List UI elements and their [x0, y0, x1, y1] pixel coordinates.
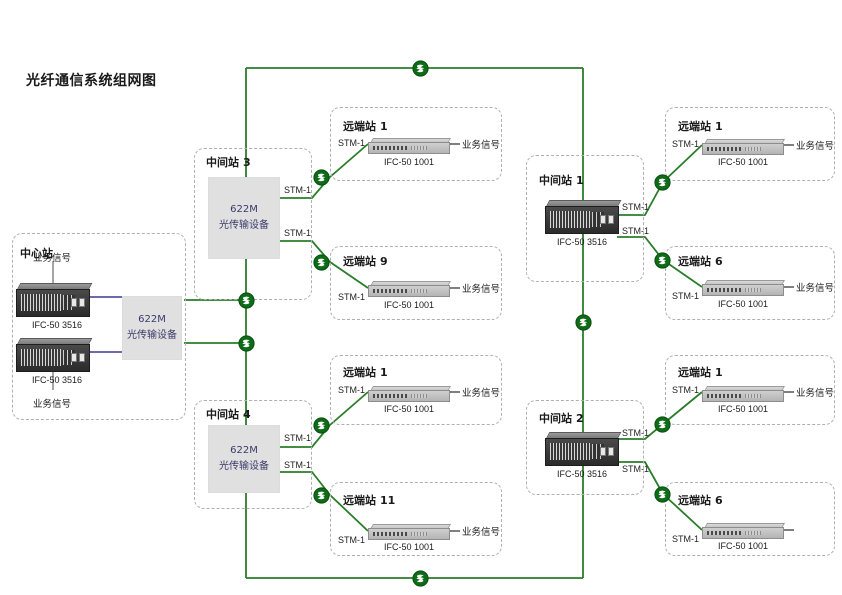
is1-device-label: IFC-50 3516: [545, 237, 619, 247]
rs6-device[interactable]: [702, 280, 784, 296]
is1-port2-label: STM-1: [622, 226, 649, 236]
station-intermediate-4-title: 中间站4: [206, 406, 251, 422]
fiber-repeater-icon[interactable]: [313, 254, 330, 271]
center-device-top-label: IFC-50 3516: [20, 320, 94, 330]
unit-port-strip: [707, 531, 741, 535]
is4-eq-rate: 622M: [230, 443, 258, 459]
page-title: 光纤通信系统组网图: [26, 70, 157, 90]
rs6-name: 远端站: [678, 255, 711, 268]
rs6b-num: 6: [715, 494, 723, 507]
is1-port1-label: STM-1: [622, 202, 649, 212]
rs1b-num: 1: [380, 366, 388, 379]
unit-port-strip: [707, 288, 741, 292]
rs6b-device[interactable]: [702, 523, 784, 539]
rs6-uplink-label: STM-1: [672, 291, 699, 301]
rs1br-device-label: IFC-50 1001: [702, 404, 784, 414]
rs9-uplink-label: STM-1: [338, 292, 365, 302]
center-device-bottom-label: IFC-50 3516: [20, 375, 94, 385]
rack-led-a: [71, 298, 77, 307]
is3-port1-label: STM-1: [284, 185, 311, 195]
fiber-repeater-icon[interactable]: [412, 60, 429, 77]
is3-num: 3: [243, 156, 251, 169]
rs6-service-label: 业务信号: [796, 280, 834, 294]
center-device-top[interactable]: [16, 283, 90, 317]
rs1b-uplink-label: STM-1: [338, 385, 365, 395]
is2-port2-label: STM-1: [622, 464, 649, 474]
rack-led-b: [608, 447, 614, 456]
rack-led-a: [600, 215, 606, 224]
unit-body: [368, 390, 450, 402]
rack-led-a: [600, 447, 606, 456]
rack-card-slots: [550, 211, 590, 228]
is2-num: 2: [576, 412, 584, 425]
is1-num: 1: [576, 174, 584, 187]
unit-port-strip: [373, 394, 407, 398]
rack-body: [545, 206, 619, 234]
rs6-num: 6: [715, 255, 723, 268]
rs1br-device[interactable]: [702, 386, 784, 402]
unit-port-strip-2: [411, 532, 427, 536]
rs1-name: 远端站: [343, 120, 376, 133]
rack-led-b: [79, 353, 85, 362]
is2-port1-label: STM-1: [622, 428, 649, 438]
station-intermediate-2-title: 中间站2: [539, 410, 584, 426]
rack-body: [16, 344, 90, 372]
fiber-repeater-icon[interactable]: [654, 416, 671, 433]
rs1r-device[interactable]: [702, 139, 784, 155]
unit-body: [702, 527, 784, 539]
center-eq-name: 光传输设备: [127, 328, 177, 344]
rs1r-service-label: 业务信号: [796, 138, 834, 152]
fiber-repeater-icon[interactable]: [654, 486, 671, 503]
fiber-repeater-icon[interactable]: [313, 417, 330, 434]
is4-num: 4: [243, 408, 251, 421]
rs9-name: 远端站: [343, 255, 376, 268]
is1-name: 中间站: [539, 174, 572, 187]
is3-eq-rate: 622M: [230, 202, 258, 218]
rack-led-b: [79, 298, 85, 307]
rs11-name: 远端站: [343, 494, 376, 507]
rs1-device-label: IFC-50 1001: [368, 157, 450, 167]
station-remote-1-bottom-right-title: 远端站1: [678, 364, 723, 380]
rs1r-device-label: IFC-50 1001: [702, 157, 784, 167]
rs11-device[interactable]: [368, 524, 450, 540]
center-device-bottom[interactable]: [16, 338, 90, 372]
unit-port-strip-2: [745, 288, 761, 292]
fiber-repeater-icon[interactable]: [313, 487, 330, 504]
unit-port-strip: [707, 394, 741, 398]
fiber-repeater-icon[interactable]: [238, 292, 255, 309]
fiber-repeater-icon[interactable]: [654, 174, 671, 191]
rs1r-num: 1: [715, 120, 723, 133]
unit-port-strip-2: [745, 394, 761, 398]
rs6b-uplink-label: STM-1: [672, 534, 699, 544]
rs9-num: 9: [380, 255, 388, 268]
rs1-uplink-label: STM-1: [338, 138, 365, 148]
is3-optical-equipment[interactable]: 622M 光传输设备: [208, 177, 280, 259]
rs6-device-label: IFC-50 1001: [702, 299, 784, 309]
unit-body: [702, 143, 784, 155]
is2-device-label: IFC-50 3516: [545, 469, 619, 479]
is4-name: 中间站: [206, 408, 239, 421]
is4-port1-label: STM-1: [284, 433, 311, 443]
unit-body: [368, 285, 450, 297]
rs11-uplink-label: STM-1: [338, 535, 365, 545]
rs1b-service-label: 业务信号: [462, 385, 500, 399]
unit-port-strip-2: [745, 531, 761, 535]
rs9-device-label: IFC-50 1001: [368, 300, 450, 310]
unit-port-strip-2: [411, 289, 427, 293]
is4-eq-name: 光传输设备: [219, 459, 269, 475]
is1-device[interactable]: [545, 200, 619, 234]
rs11-num: 11: [380, 494, 395, 507]
rack-led-a: [71, 353, 77, 362]
fiber-repeater-icon[interactable]: [238, 335, 255, 352]
rs1br-name: 远端站: [678, 366, 711, 379]
fiber-repeater-icon[interactable]: [654, 252, 671, 269]
unit-port-strip-2: [411, 394, 427, 398]
rack-card-slots: [550, 443, 590, 460]
rs1-device[interactable]: [368, 138, 450, 154]
rs1br-num: 1: [715, 366, 723, 379]
station-remote-6-title: 远端站6: [678, 253, 723, 269]
unit-body: [368, 528, 450, 540]
rs1b-device-label: IFC-50 1001: [368, 404, 450, 414]
rs1r-uplink-label: STM-1: [672, 139, 699, 149]
rs9-service-label: 业务信号: [462, 281, 500, 295]
is3-eq-name: 光传输设备: [219, 218, 269, 234]
rack-led-b: [608, 215, 614, 224]
station-remote-9-title: 远端站9: [343, 253, 388, 269]
rack-body: [545, 438, 619, 466]
is4-port2-label: STM-1: [284, 460, 311, 470]
station-remote-1-title: 远端站1: [343, 118, 388, 134]
rs1b-name: 远端站: [343, 366, 376, 379]
station-intermediate-3-title: 中间站3: [206, 154, 251, 170]
unit-port-strip-2: [745, 147, 761, 151]
rs1br-uplink-label: STM-1: [672, 385, 699, 395]
rs9-device[interactable]: [368, 281, 450, 297]
unit-port-strip: [707, 147, 741, 151]
station-intermediate-1-title: 中间站1: [539, 172, 584, 188]
is3-name: 中间站: [206, 156, 239, 169]
is4-optical-equipment[interactable]: 622M 光传输设备: [208, 425, 280, 493]
rack-card-slots: [21, 294, 61, 311]
station-remote-11-title: 远端站11: [343, 492, 395, 508]
station-remote-6-bottom-title: 远端站6: [678, 492, 723, 508]
unit-body: [702, 284, 784, 296]
unit-port-strip: [373, 289, 407, 293]
rs1b-device[interactable]: [368, 386, 450, 402]
is2-device[interactable]: [545, 432, 619, 466]
center-optical-equipment[interactable]: 622M 光传输设备: [122, 296, 182, 360]
rs6b-device-label: IFC-50 1001: [702, 541, 784, 551]
rs1br-service-label: 业务信号: [796, 385, 834, 399]
center-bottom-signal-text: 业务信号: [33, 396, 71, 410]
network-diagram-canvas: 光纤通信系统组网图 中心站 业务信号 业务信号 IFC-50 3516 IFC-…: [0, 0, 842, 595]
rs1-service-label: 业务信号: [462, 137, 500, 151]
center-eq-rate: 622M: [138, 312, 166, 328]
station-remote-1-right-title: 远端站1: [678, 118, 723, 134]
station-remote-1-lower-title: 远端站1: [343, 364, 388, 380]
unit-port-strip: [373, 146, 407, 150]
fiber-repeater-icon[interactable]: [412, 570, 429, 587]
rs1-num: 1: [380, 120, 388, 133]
unit-body: [702, 390, 784, 402]
rack-card-slots: [21, 349, 61, 366]
fiber-repeater-icon[interactable]: [575, 314, 592, 331]
rs6b-name: 远端站: [678, 494, 711, 507]
is2-name: 中间站: [539, 412, 572, 425]
rack-body: [16, 289, 90, 317]
unit-body: [368, 142, 450, 154]
rs11-service-label: 业务信号: [462, 524, 500, 538]
rs1r-name: 远端站: [678, 120, 711, 133]
fiber-repeater-icon[interactable]: [313, 169, 330, 186]
rs11-device-label: IFC-50 1001: [368, 542, 450, 552]
is3-port2-label: STM-1: [284, 228, 311, 238]
unit-port-strip-2: [411, 146, 427, 150]
unit-port-strip: [373, 532, 407, 536]
center-top-signal-text: 业务信号: [33, 250, 71, 264]
